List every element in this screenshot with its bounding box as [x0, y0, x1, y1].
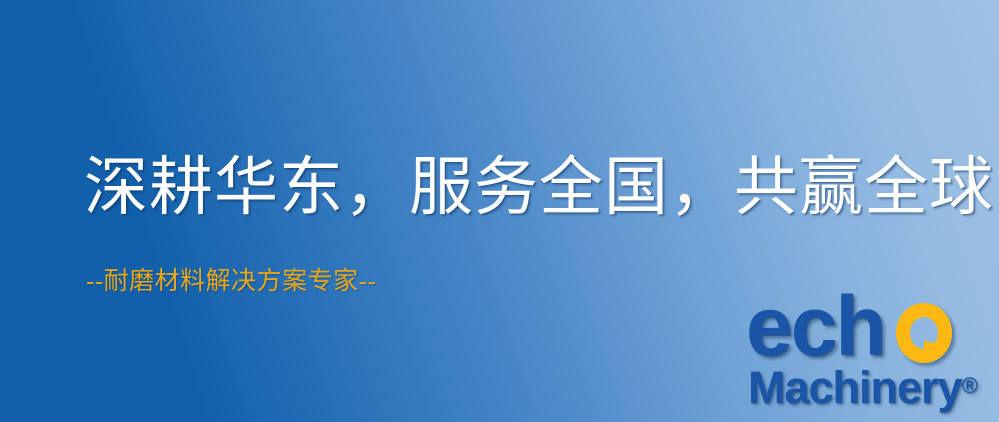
banner-headline: 深耕华东，服务全国，共赢全球 — [84, 152, 994, 224]
registered-trademark-icon: ® — [962, 373, 978, 398]
logo-wordmark-row: ech — [744, 296, 996, 370]
signal-wave-icon — [924, 287, 996, 353]
logo-subbrand: Machinery® — [748, 362, 978, 412]
banner-subtitle: --耐磨材料解决方案专家-- — [86, 266, 376, 298]
hero-banner: 深耕华东，服务全国，共赢全球 --耐磨材料解决方案专家-- ech Machin… — [0, 0, 999, 422]
logo-wordmark-ech: ech — [746, 284, 885, 368]
company-logo[interactable]: ech Machinery® — [744, 296, 996, 418]
logo-subbrand-label: Machinery — [748, 362, 962, 413]
